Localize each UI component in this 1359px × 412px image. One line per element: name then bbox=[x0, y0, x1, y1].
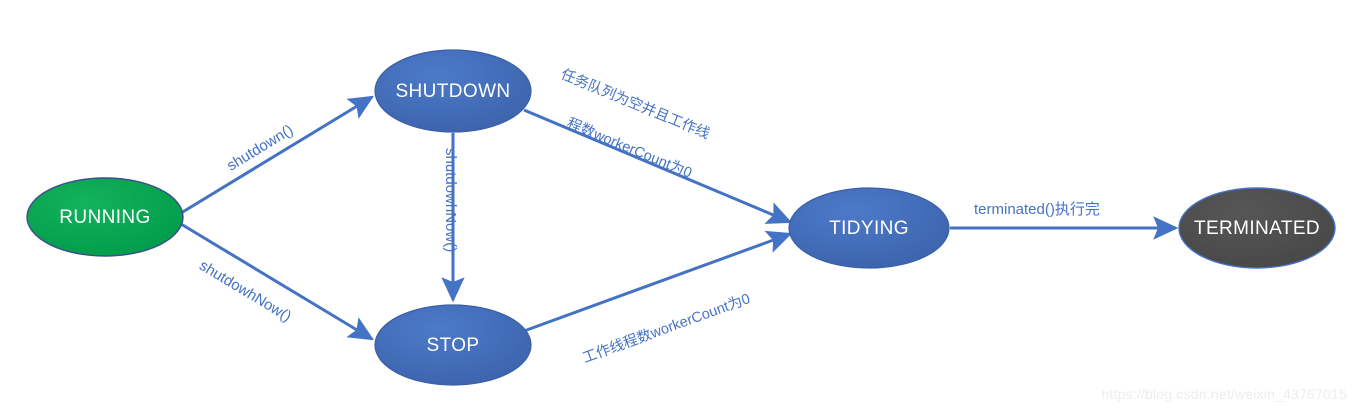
shutdown-ellipse[interactable] bbox=[375, 50, 531, 132]
diagram-canvas: RUNNING SHUTDOWN STOP TIDYING TERMINATED… bbox=[0, 0, 1359, 412]
state-diagram-svg: RUNNING SHUTDOWN STOP TIDYING TERMINATED bbox=[0, 0, 1359, 412]
edge-running-to-shutdown bbox=[181, 97, 372, 213]
edge-stop-to-tidying bbox=[524, 234, 790, 331]
watermark: https://blog.csdn.net/weixin_43767015 bbox=[1101, 386, 1347, 402]
edge-running-to-stop bbox=[181, 224, 372, 339]
edges-layer bbox=[181, 97, 1176, 339]
stop-ellipse[interactable] bbox=[375, 305, 531, 385]
node-shutdown[interactable]: SHUTDOWN bbox=[375, 50, 531, 132]
edge-shutdown-to-tidying bbox=[524, 110, 790, 222]
node-stop[interactable]: STOP bbox=[375, 305, 531, 385]
terminated-ellipse[interactable] bbox=[1179, 188, 1335, 268]
node-running[interactable]: RUNNING bbox=[27, 178, 183, 256]
running-ellipse[interactable] bbox=[27, 178, 183, 256]
node-tidying[interactable]: TIDYING bbox=[789, 188, 949, 268]
node-terminated[interactable]: TERMINATED bbox=[1179, 188, 1335, 268]
tidying-ellipse[interactable] bbox=[789, 188, 949, 268]
